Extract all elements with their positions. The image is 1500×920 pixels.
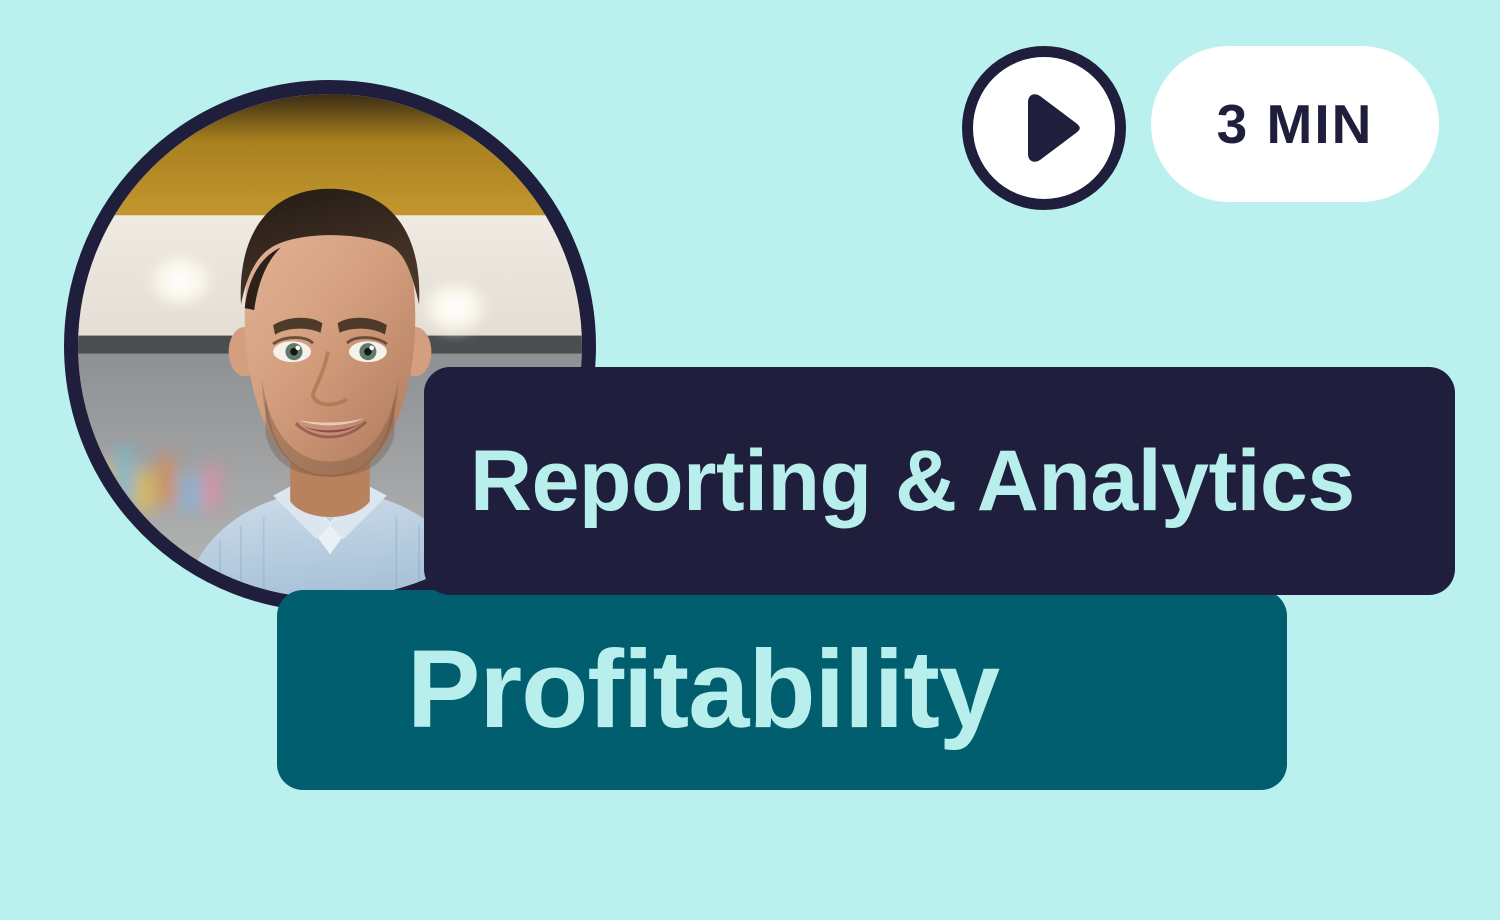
title-badge: Reporting & Analytics [424, 367, 1455, 595]
play-button[interactable] [962, 46, 1126, 210]
duration-badge: 3 MIN [1151, 46, 1439, 202]
play-triangle-icon [1018, 92, 1082, 164]
duration-label: 3 MIN [1217, 97, 1374, 152]
subtitle-text: Profitability [277, 635, 999, 745]
subtitle-banner: Profitability [277, 590, 1287, 790]
title-text: Reporting & Analytics [424, 438, 1355, 524]
video-thumbnail-card: 3 MIN Profitability Reporting & Analytic… [0, 0, 1500, 920]
